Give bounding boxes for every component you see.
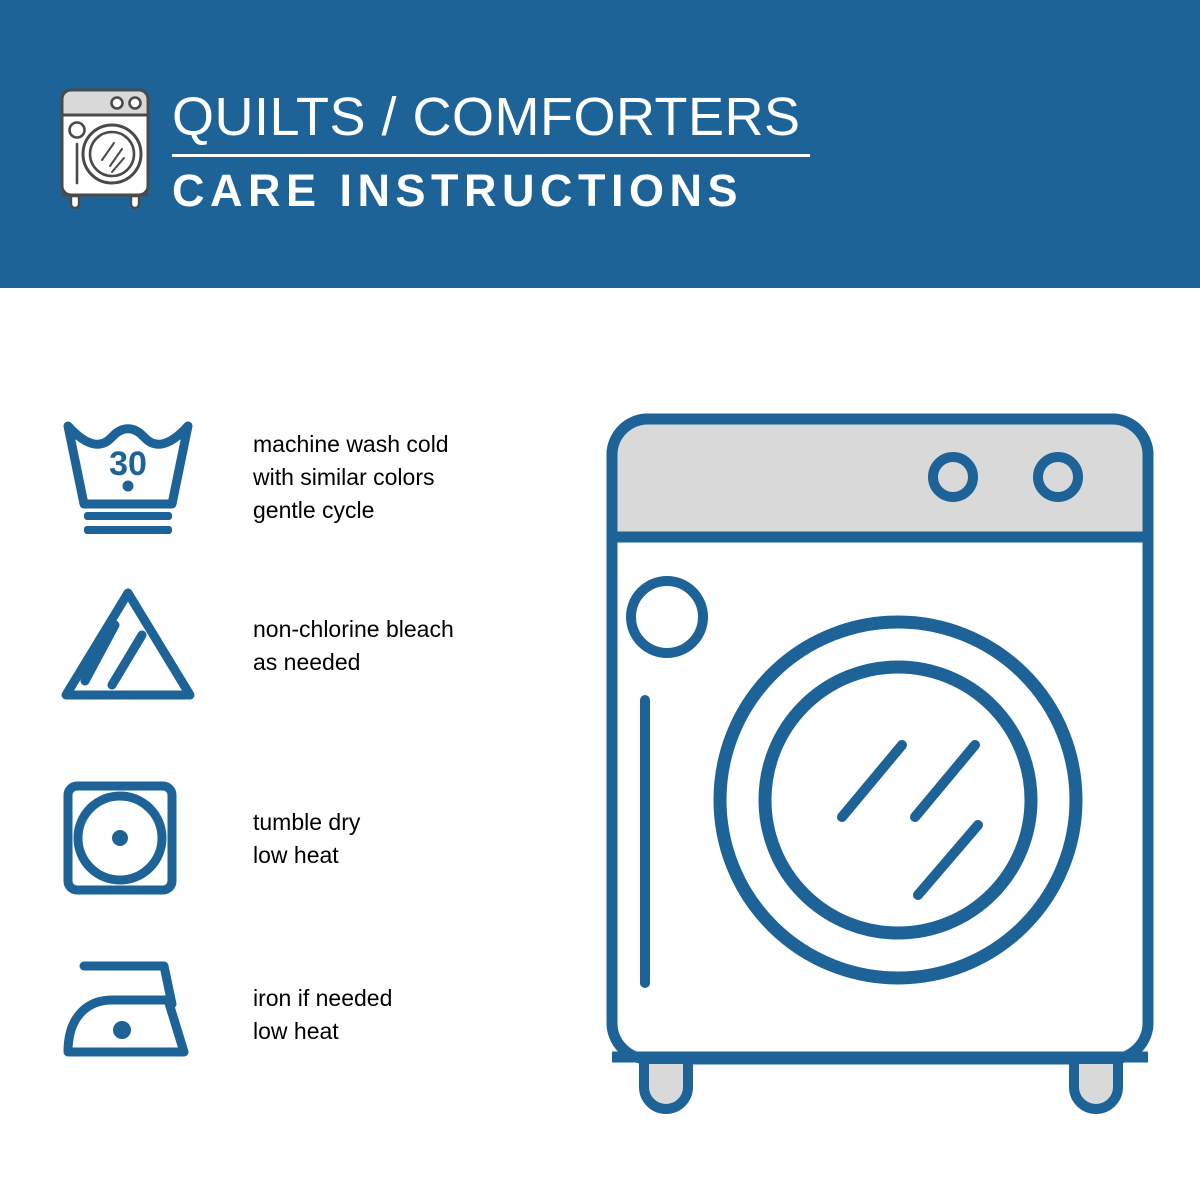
machine-leg-right bbox=[1074, 1059, 1118, 1109]
care-label-wash: machine wash cold with similar colors ge… bbox=[253, 428, 449, 527]
title-divider bbox=[172, 154, 810, 157]
care-instructions-page: QUILTS / COMFORTERS CARE INSTRUCTIONS 30… bbox=[0, 0, 1200, 1200]
care-line: non-chlorine bleach bbox=[253, 613, 454, 646]
care-label-iron: iron if needed low heat bbox=[253, 982, 392, 1048]
washing-machine-icon bbox=[50, 80, 160, 210]
care-line: low heat bbox=[253, 1015, 392, 1048]
care-label-bleach: non-chlorine bleach as needed bbox=[253, 613, 454, 679]
washing-machine-illustration bbox=[600, 405, 1160, 1120]
care-line: iron if needed bbox=[253, 982, 392, 1015]
care-line: gentle cycle bbox=[253, 494, 449, 527]
wash-tub-30-gentle-icon: 30 bbox=[60, 418, 205, 538]
page-subtitle: CARE INSTRUCTIONS bbox=[172, 165, 822, 217]
care-row-wash: 30 machine wash cold with similar colors… bbox=[0, 418, 540, 558]
machine-leg-left bbox=[644, 1059, 688, 1109]
care-line: as needed bbox=[253, 646, 454, 679]
care-line: machine wash cold bbox=[253, 428, 449, 461]
svg-text:30: 30 bbox=[109, 445, 147, 483]
bleach-triangle-non-chlorine-icon bbox=[60, 585, 205, 705]
care-row-tumble-dry: tumble dry low heat bbox=[0, 778, 540, 918]
care-line: tumble dry bbox=[253, 806, 360, 839]
page-header: QUILTS / COMFORTERS CARE INSTRUCTIONS bbox=[0, 0, 1200, 288]
care-label-tumble-dry: tumble dry low heat bbox=[253, 806, 360, 872]
page-title: QUILTS / COMFORTERS bbox=[172, 86, 822, 148]
header-text-block: QUILTS / COMFORTERS CARE INSTRUCTIONS bbox=[172, 86, 822, 217]
care-row-bleach: non-chlorine bleach as needed bbox=[0, 585, 540, 725]
tumble-dry-low-heat-icon bbox=[60, 778, 205, 898]
care-line: low heat bbox=[253, 839, 360, 872]
care-row-iron: iron if needed low heat bbox=[0, 952, 540, 1092]
iron-low-heat-icon bbox=[60, 952, 205, 1072]
care-line: with similar colors bbox=[253, 461, 449, 494]
